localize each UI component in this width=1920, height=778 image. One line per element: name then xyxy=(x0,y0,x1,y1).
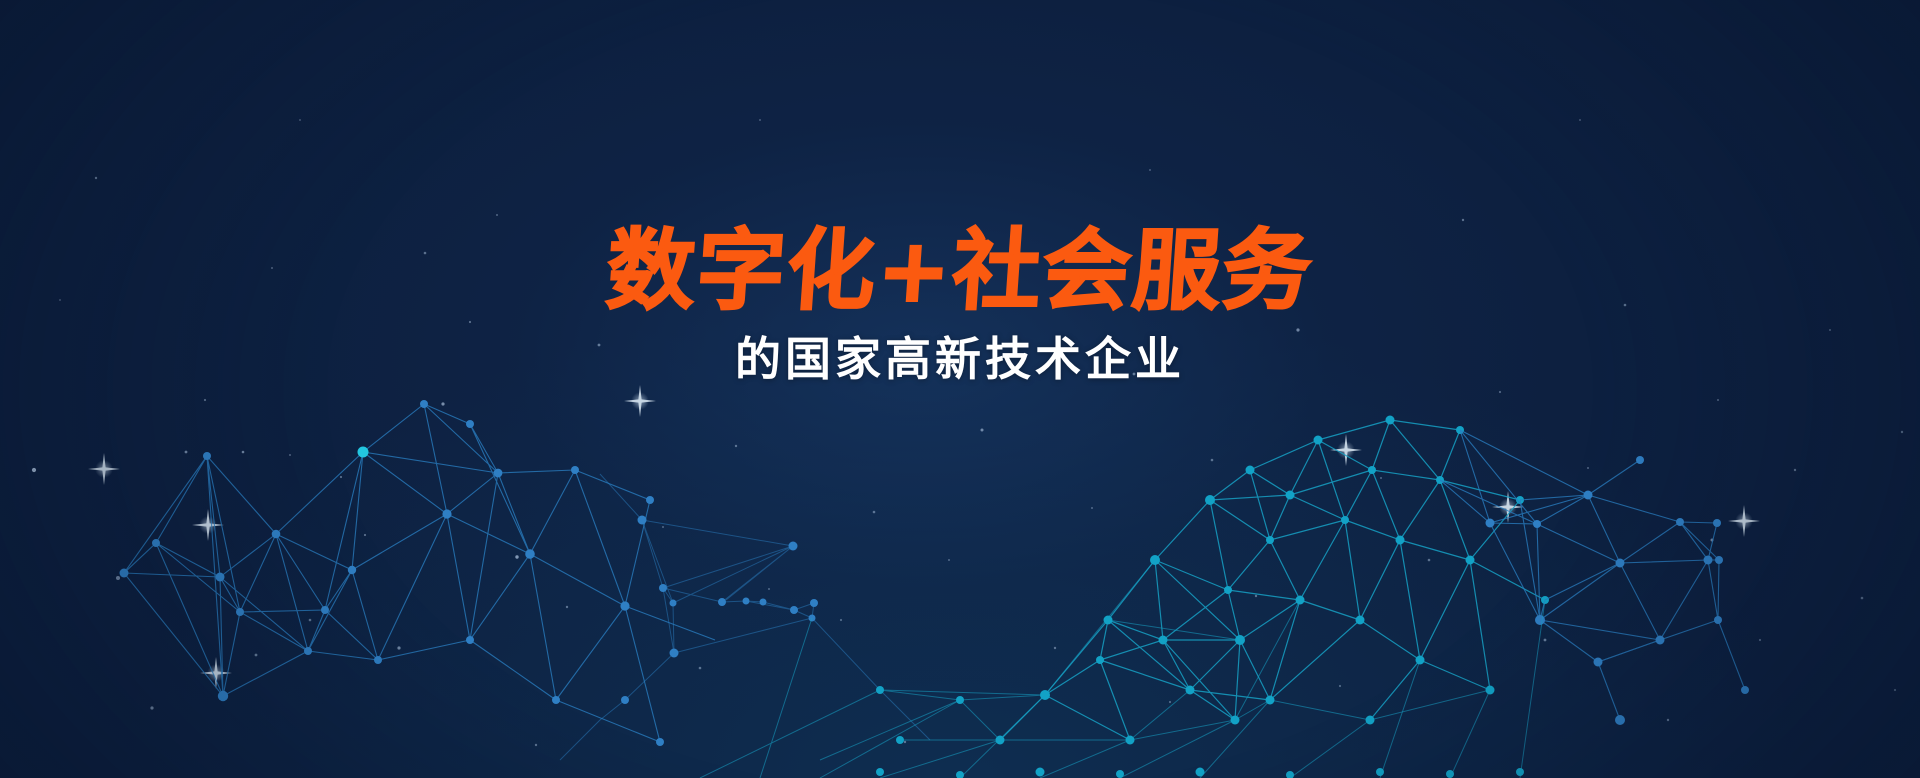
hero-subheadline: 的国家高新技术企业 xyxy=(0,334,1920,385)
hero-headline: 数字化+社会服务 xyxy=(0,226,1920,316)
hero-banner: .ln-b{stroke:#2a7ec0;stroke-width:1.1;fi… xyxy=(0,0,1920,778)
starfield xyxy=(0,0,1920,778)
hero-text-block: 数字化+社会服务 的国家高新技术企业 xyxy=(0,226,1920,384)
